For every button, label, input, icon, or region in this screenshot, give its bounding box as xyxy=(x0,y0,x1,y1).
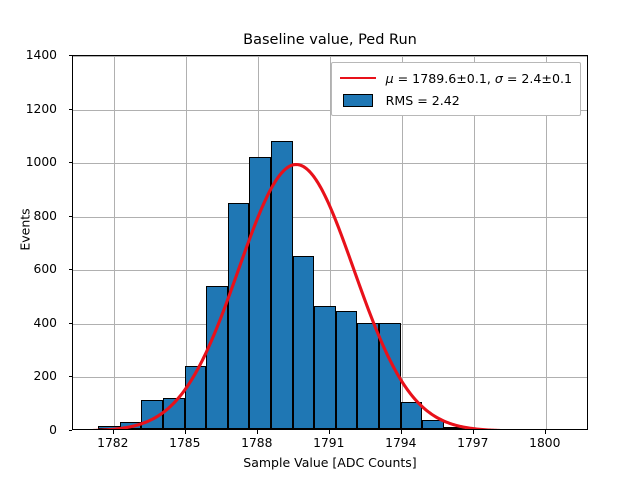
y-tick-mark xyxy=(69,430,73,431)
y-tick-label: 1400 xyxy=(0,49,57,61)
legend: μ = 1789.6±0.1, σ = 2.4±0.1 RMS = 2.42 xyxy=(331,62,581,116)
y-tick-label: 200 xyxy=(0,370,57,382)
x-tick-mark xyxy=(401,430,402,434)
y-tick-mark xyxy=(69,376,73,377)
y-axis-label: Events xyxy=(18,150,33,310)
y-tick-label: 0 xyxy=(0,424,57,436)
x-tick-label: 1800 xyxy=(515,436,575,450)
x-tick-mark xyxy=(113,430,114,434)
x-tick-mark xyxy=(185,430,186,434)
x-tick-label: 1782 xyxy=(83,436,143,450)
x-tick-label: 1788 xyxy=(227,436,287,450)
y-tick-mark xyxy=(69,55,73,56)
legend-label-fit: μ = 1789.6±0.1, σ = 2.4±0.1 xyxy=(386,71,572,86)
y-tick-mark xyxy=(69,323,73,324)
legend-line-key-icon xyxy=(339,71,377,85)
legend-label-rms: RMS = 2.42 xyxy=(386,93,460,108)
y-tick-label: 400 xyxy=(0,317,57,329)
y-tick-mark xyxy=(69,216,73,217)
x-tick-label: 1797 xyxy=(443,436,503,450)
x-axis-label: Sample Value [ADC Counts] xyxy=(72,455,588,470)
histogram-figure: Baseline value, Ped Run μ = 1789.6±0.1, … xyxy=(0,0,640,480)
x-tick-mark xyxy=(473,430,474,434)
x-tick-label: 1791 xyxy=(299,436,359,450)
legend-entry-rms: RMS = 2.42 xyxy=(339,90,572,110)
x-tick-mark xyxy=(545,430,546,434)
x-tick-label: 1794 xyxy=(371,436,431,450)
y-tick-mark xyxy=(69,269,73,270)
y-tick-mark xyxy=(69,162,73,163)
x-tick-mark xyxy=(257,430,258,434)
x-tick-label: 1785 xyxy=(155,436,215,450)
page-title: Baseline value, Ped Run xyxy=(72,30,588,50)
x-tick-mark xyxy=(329,430,330,434)
plot-area: μ = 1789.6±0.1, σ = 2.4±0.1 RMS = 2.42 xyxy=(72,55,588,430)
y-tick-mark xyxy=(69,109,73,110)
legend-entry-fit: μ = 1789.6±0.1, σ = 2.4±0.1 xyxy=(339,68,572,88)
y-tick-label: 1200 xyxy=(0,103,57,115)
legend-patch-key-icon xyxy=(339,93,377,107)
